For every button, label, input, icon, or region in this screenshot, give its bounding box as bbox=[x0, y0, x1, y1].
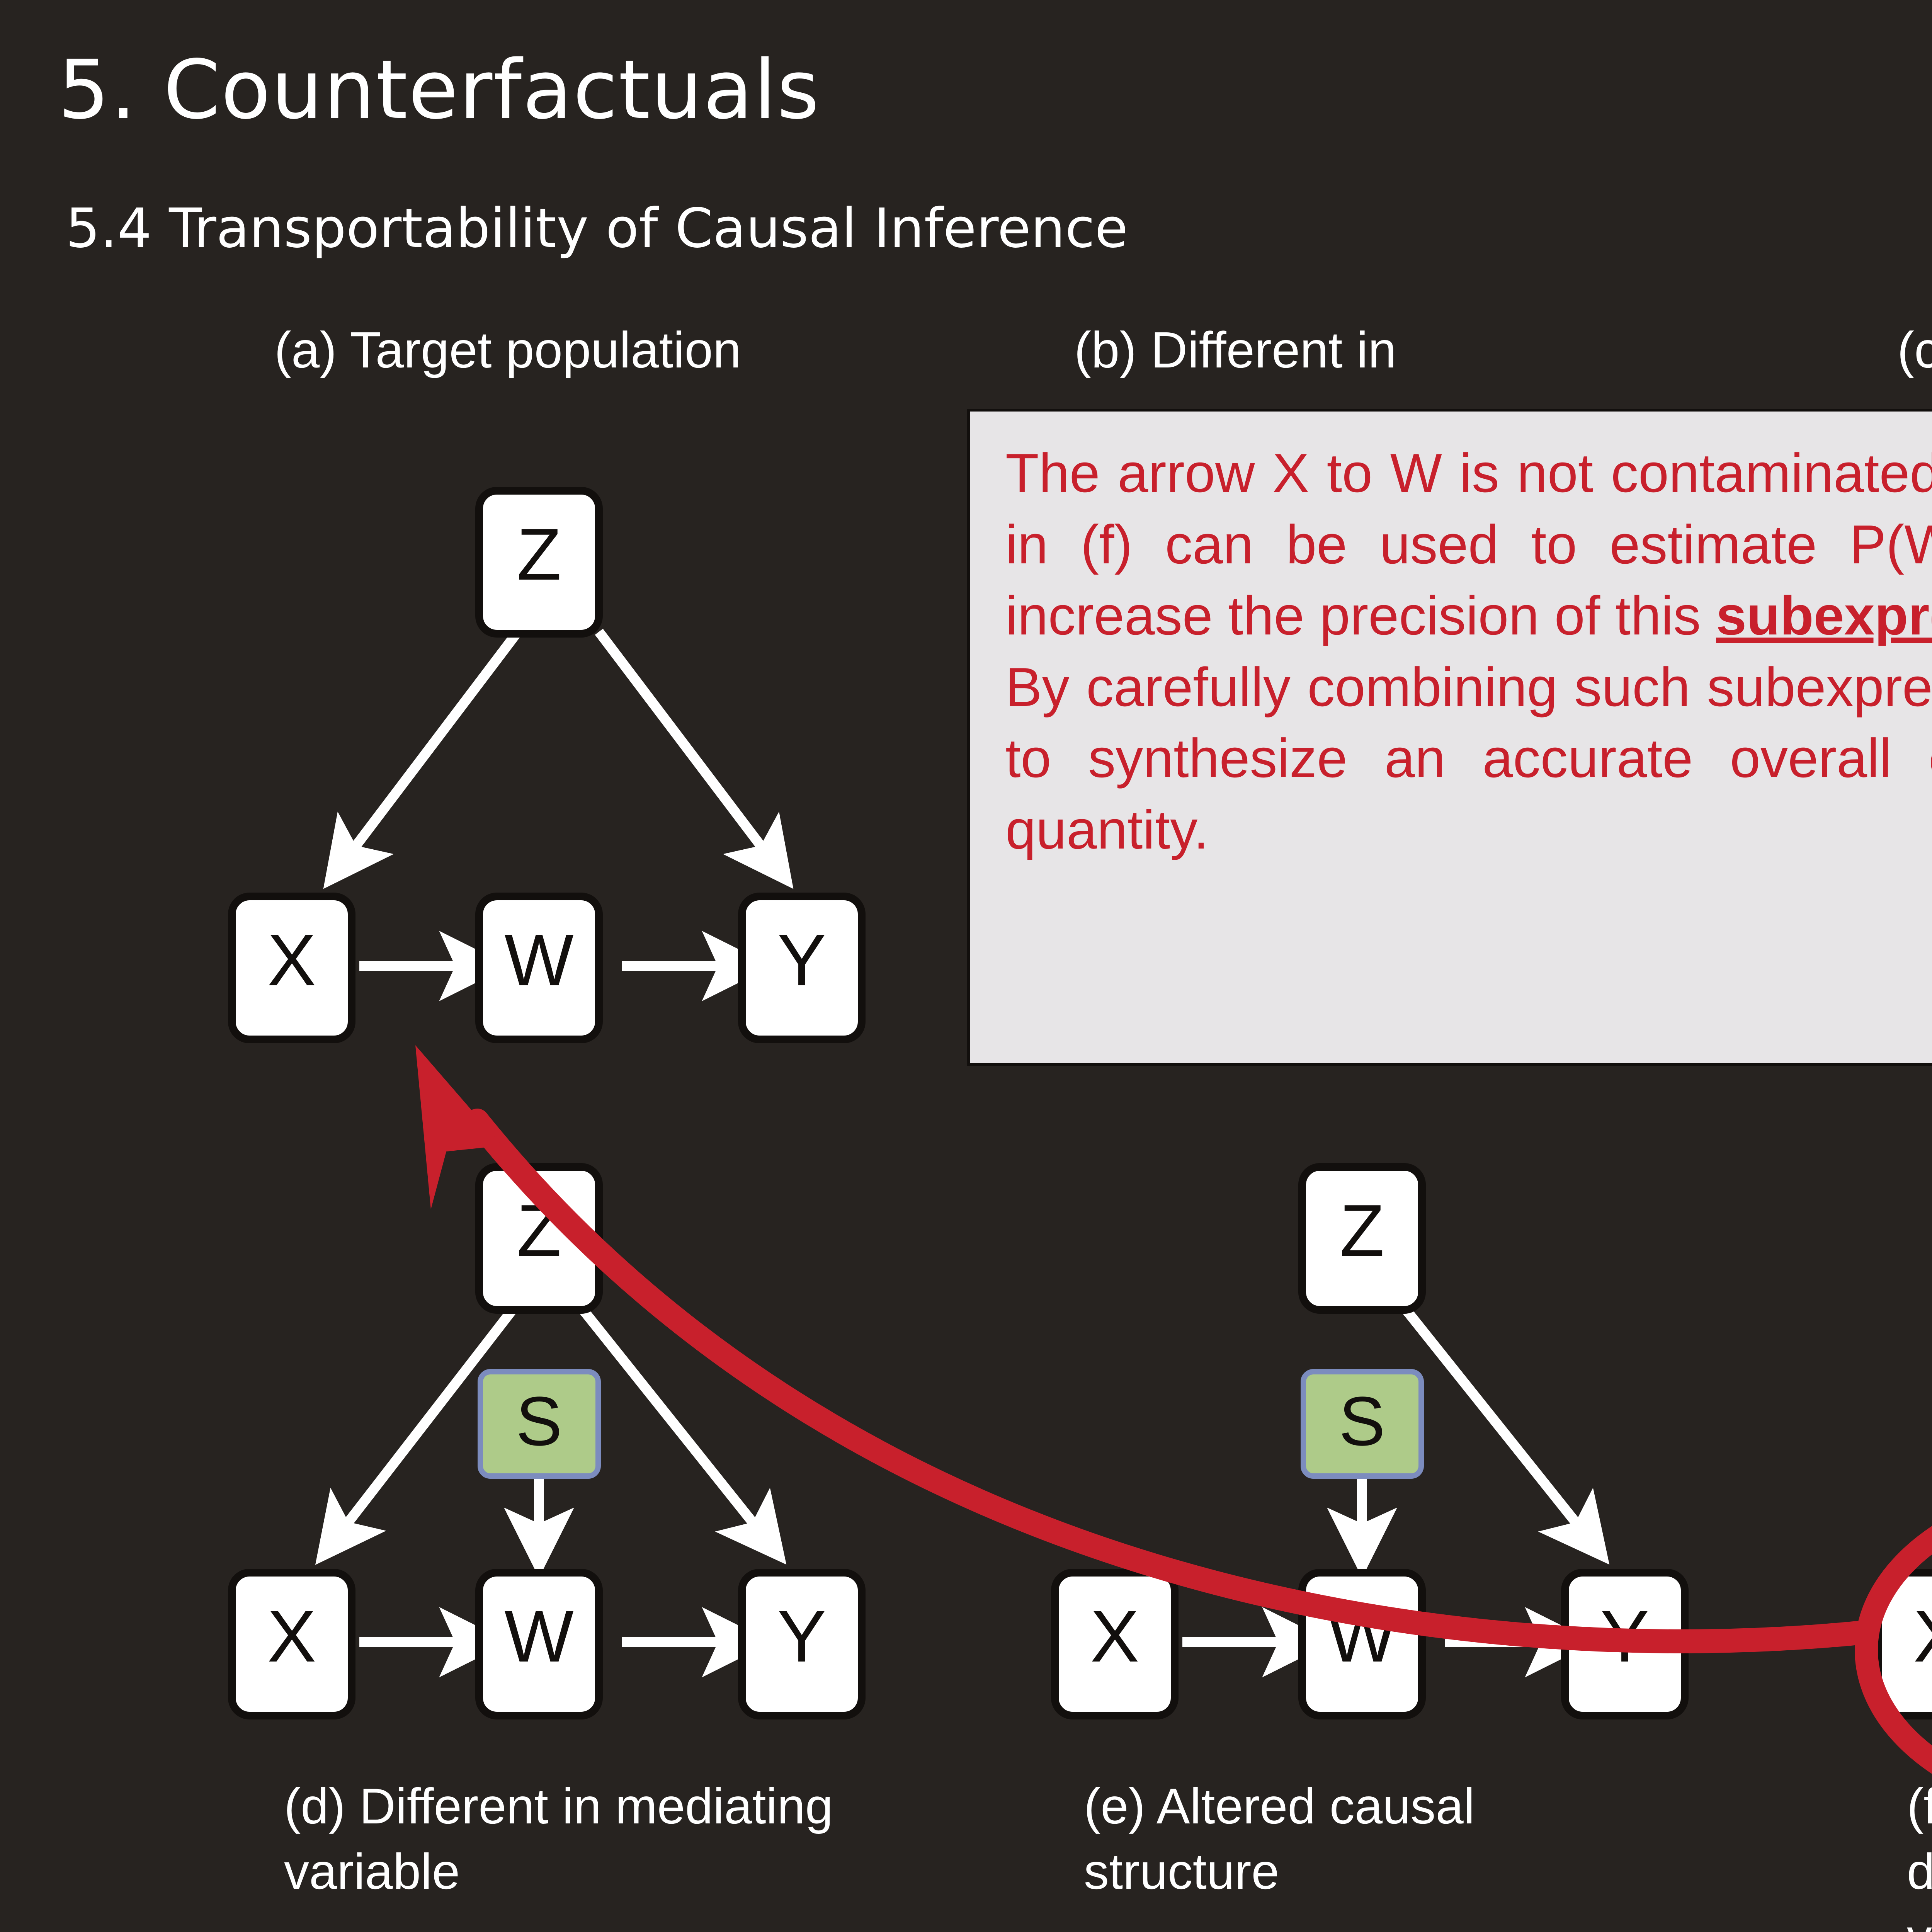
svg-text:W: W bbox=[504, 1595, 573, 1677]
caption-d: (d) Different in mediating variable bbox=[284, 1774, 864, 1904]
svg-text:S: S bbox=[516, 1383, 562, 1460]
slide-root: 5. Counterfactuals 5.4 Transportability … bbox=[0, 0, 1932, 1932]
note-paragraph-2: By carefully combining such subexpressio… bbox=[1005, 652, 1932, 866]
svg-text:S: S bbox=[1339, 1383, 1385, 1460]
svg-text:X: X bbox=[1090, 1595, 1139, 1677]
svg-text:X: X bbox=[267, 1595, 316, 1677]
note-paragraph-1: The arrow X to W is not contaminated by … bbox=[1005, 438, 1932, 652]
caption-f: (f) Altered structure, different in outc… bbox=[1907, 1774, 1932, 1932]
caption-e: (e) Altered causal structure bbox=[1084, 1774, 1625, 1904]
svg-text:W: W bbox=[504, 919, 573, 1001]
svg-text:Z: Z bbox=[517, 1190, 561, 1272]
svg-text:Y: Y bbox=[777, 1595, 827, 1677]
page-subtitle: 5.4 Transportability of Causal Inference bbox=[66, 197, 1128, 260]
diagram-e: Z S X W Y bbox=[1032, 1151, 1766, 1723]
column-heading-a: (a) Target population bbox=[274, 321, 741, 379]
svg-text:Z: Z bbox=[1340, 1190, 1384, 1272]
svg-text:X: X bbox=[267, 919, 316, 1001]
note-emphasis: subexpression bbox=[1716, 585, 1932, 646]
annotation-note-box: The arrow X to W is not contaminated by … bbox=[967, 409, 1932, 1066]
svg-text:Z: Z bbox=[517, 514, 561, 595]
diagram-f: Z S X W Y bbox=[1855, 1151, 1932, 1723]
column-heading-c: (c) Different in bbox=[1897, 321, 1932, 379]
page-title: 5. Counterfactuals bbox=[58, 43, 820, 137]
svg-text:W: W bbox=[1327, 1595, 1396, 1677]
svg-text:Y: Y bbox=[777, 919, 827, 1001]
diagram-d: Z S X W Y bbox=[209, 1151, 943, 1723]
column-heading-b: (b) Different in bbox=[1074, 321, 1396, 379]
svg-text:X: X bbox=[1913, 1595, 1932, 1677]
diagram-a: Z X W Y bbox=[209, 475, 943, 1047]
svg-text:Y: Y bbox=[1600, 1595, 1650, 1677]
